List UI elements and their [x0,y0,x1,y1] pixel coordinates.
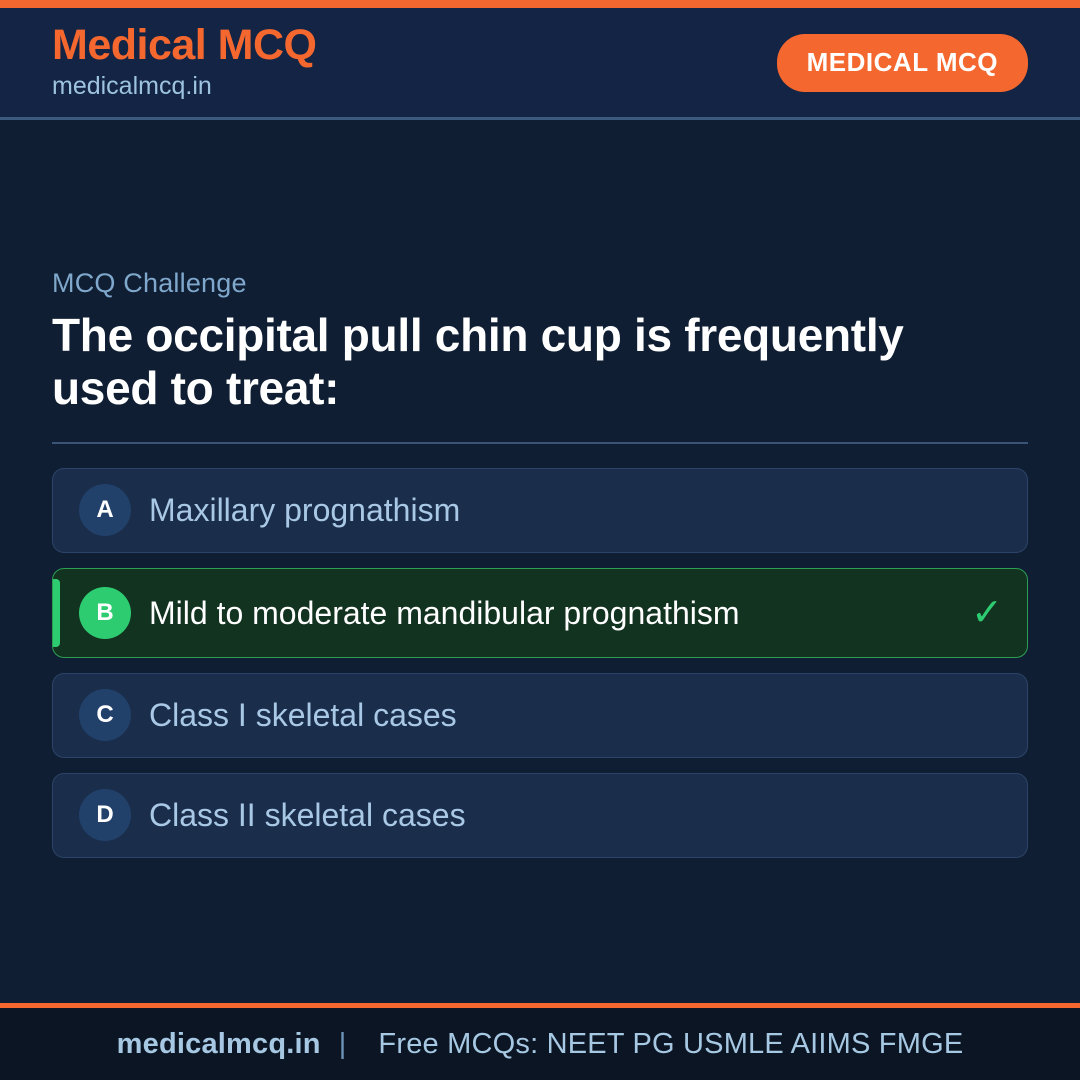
option-a[interactable]: A Maxillary prognathism [52,468,1028,553]
page-header: Medical MCQ medicalmcq.in MEDICAL MCQ [0,8,1080,120]
option-b-letter: B [79,587,131,639]
option-b-label: Mild to moderate mandibular prognathism [149,594,957,632]
footer-tagline: Free MCQs: NEET PG USMLE AIIMS FMGE [378,1028,963,1061]
brand-title: Medical MCQ [52,23,317,68]
option-d-label: Class II skeletal cases [149,796,989,834]
check-icon: ✓ [971,594,1003,632]
main-content: MCQ Challenge The occipital pull chin cu… [0,123,1080,1003]
option-c[interactable]: C Class I skeletal cases [52,673,1028,758]
brand-block[interactable]: Medical MCQ medicalmcq.in [52,23,317,103]
options-list: A Maxillary prognathism B Mild to modera… [52,468,1028,858]
header-badge[interactable]: MEDICAL MCQ [777,34,1028,92]
brand-subtitle: medicalmcq.in [52,70,317,103]
eyebrow-label: MCQ Challenge [52,268,1028,299]
option-d[interactable]: D Class II skeletal cases [52,773,1028,858]
correct-accent-bar [53,579,60,647]
option-b[interactable]: B Mild to moderate mandibular prognathis… [52,568,1028,658]
option-a-label: Maxillary prognathism [149,491,989,529]
footer-site-link[interactable]: medicalmcq.in [117,1028,321,1061]
question-divider [52,442,1028,444]
top-accent-bar [0,0,1080,8]
footer-separator: | [339,1028,347,1061]
question-text: The occipital pull chin cup is frequentl… [52,309,932,414]
option-a-letter: A [79,484,131,536]
option-c-label: Class I skeletal cases [149,696,989,734]
option-c-letter: C [79,689,131,741]
page-footer: medicalmcq.in | Free MCQs: NEET PG USMLE… [0,1003,1080,1080]
option-d-letter: D [79,789,131,841]
